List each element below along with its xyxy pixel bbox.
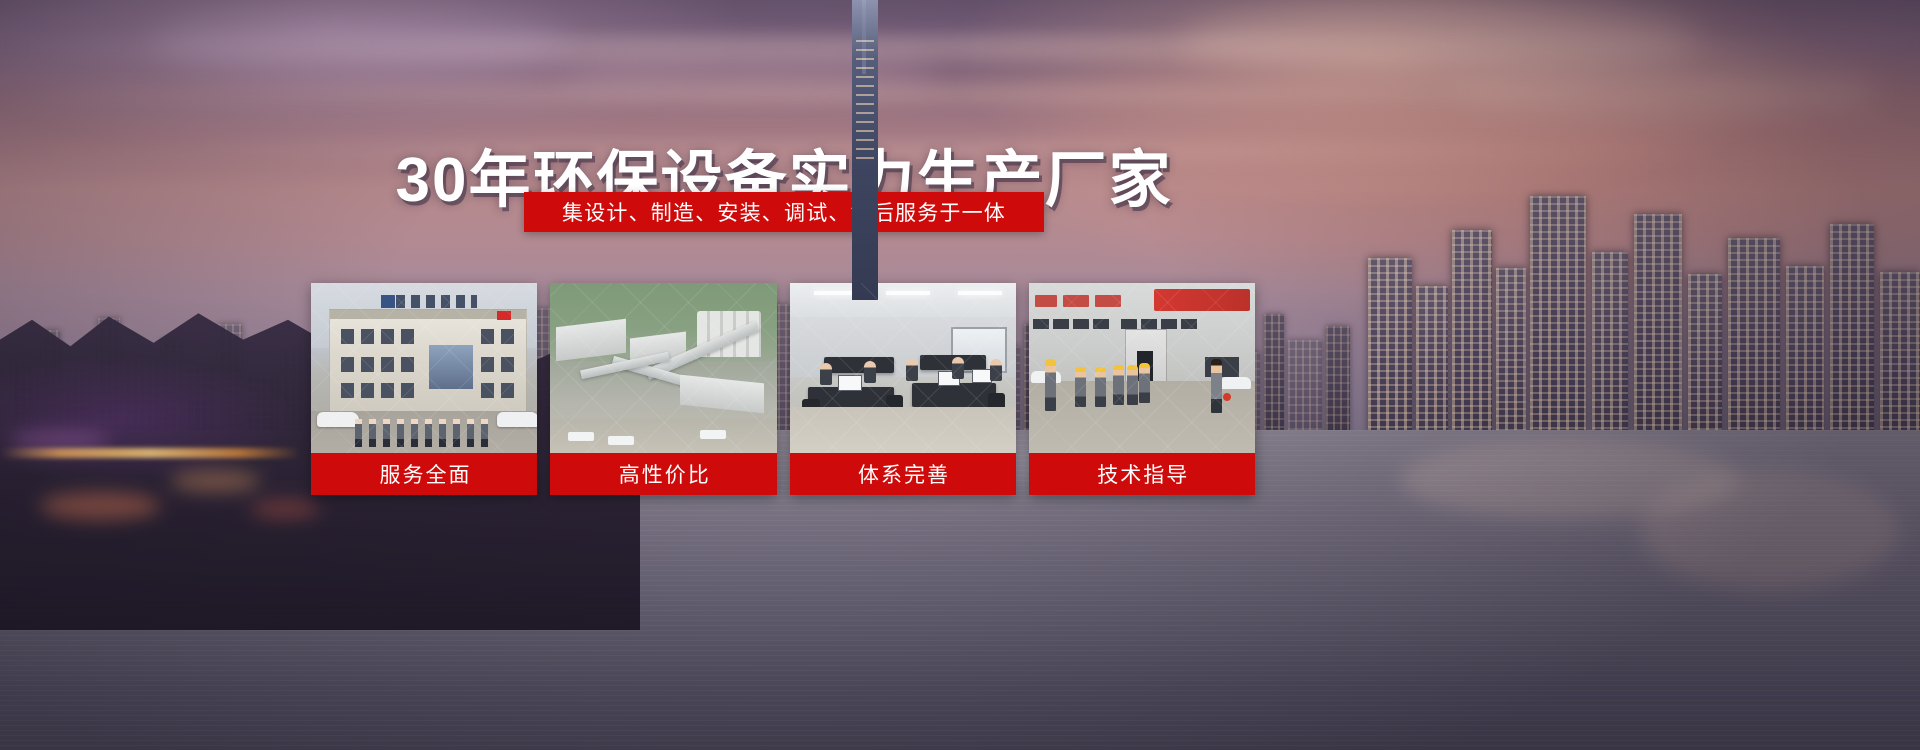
- helmet-icon: [1223, 393, 1231, 401]
- car: [497, 412, 537, 427]
- flag-icon: [497, 311, 511, 320]
- banner-content: 30年环保设备实力生产厂家 集设计、制造、安装、调试、售后服务于一体: [0, 0, 1920, 750]
- truck: [608, 436, 634, 445]
- feature-card[interactable]: 体系完善: [790, 283, 1016, 495]
- feature-card[interactable]: 服务全面: [311, 283, 537, 495]
- card-label-text: 技术指导: [1097, 459, 1189, 489]
- car: [317, 412, 359, 427]
- car: [1221, 377, 1251, 389]
- feature-card[interactable]: 高性价比: [550, 283, 776, 495]
- card-label: 体系完善: [790, 453, 1016, 495]
- card-label-text: 服务全面: [380, 459, 472, 489]
- factory-sign: [1154, 289, 1250, 311]
- card-label: 高性价比: [550, 453, 776, 495]
- tower-lights: [856, 40, 874, 160]
- subtitle-banner: 集设计、制造、安装、调试、售后服务于一体: [524, 192, 1044, 232]
- subtitle-text: 集设计、制造、安装、调试、售后服务于一体: [562, 197, 1006, 227]
- card-photo-office-building: [311, 283, 537, 453]
- card-label: 技术指导: [1029, 453, 1255, 495]
- truck: [568, 432, 594, 441]
- card-photo-factory-yard: [1029, 283, 1255, 453]
- card-label: 服务全面: [311, 453, 537, 495]
- card-photo-office-interior: [790, 283, 1016, 453]
- feature-card-list: 服务全面: [311, 283, 1255, 495]
- monitor: [972, 369, 992, 383]
- card-label-text: 体系完善: [858, 459, 950, 489]
- feature-card[interactable]: 技术指导: [1029, 283, 1255, 495]
- truck: [700, 430, 726, 439]
- card-photo-industrial-plant: [550, 283, 776, 453]
- hero-banner: 30年环保设备实力生产厂家 集设计、制造、安装、调试、售后服务于一体: [0, 0, 1920, 750]
- building-sign: [381, 295, 477, 308]
- card-label-text: 高性价比: [619, 459, 711, 489]
- monitor: [838, 375, 862, 391]
